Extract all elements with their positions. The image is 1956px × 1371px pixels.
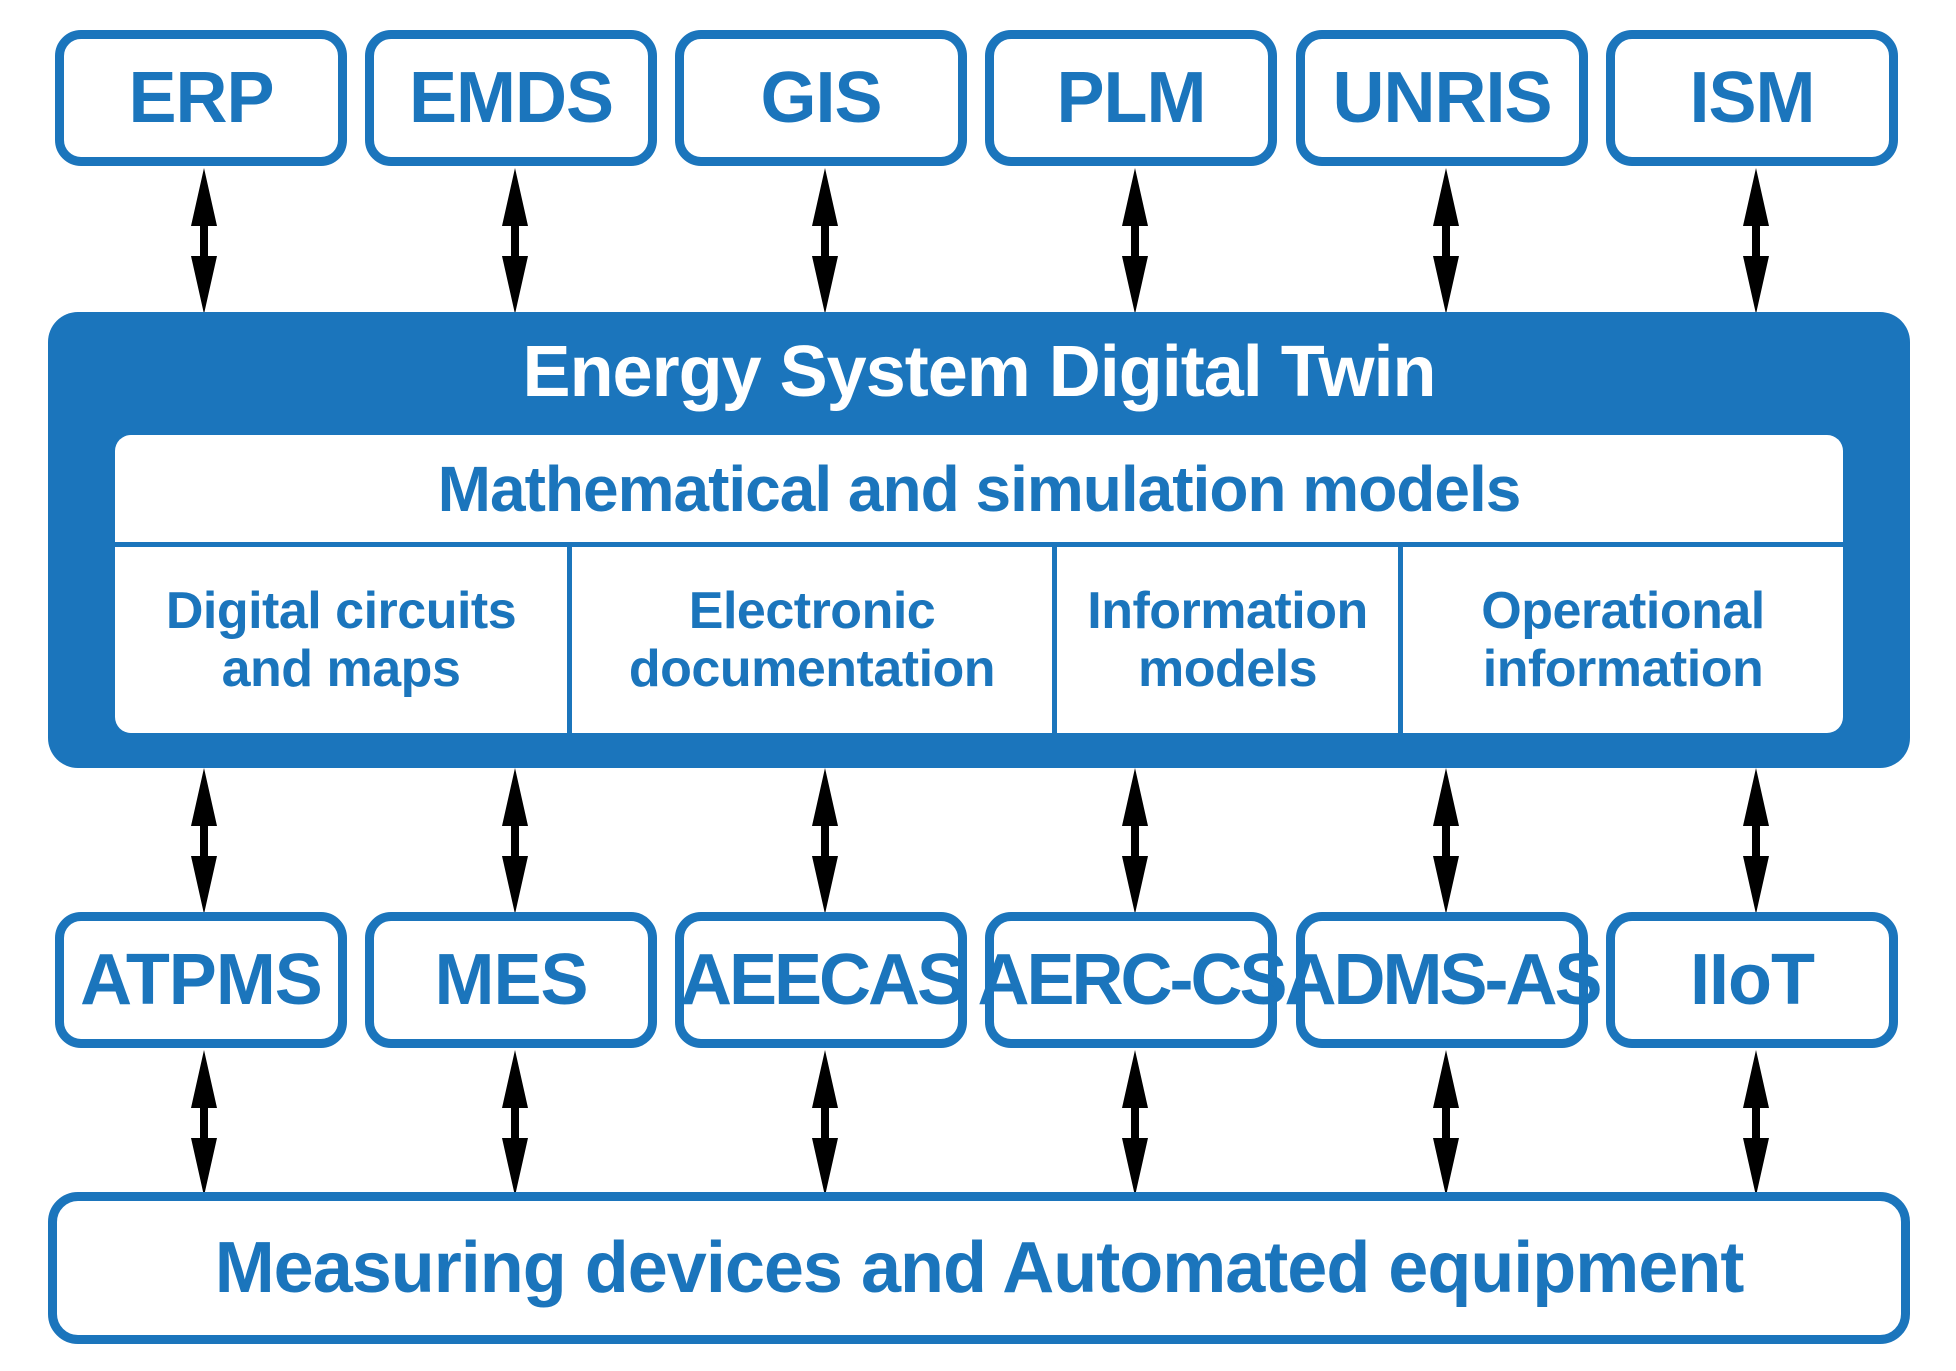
models-container: Mathematical and simulation models Digit… <box>115 435 1843 733</box>
system-box-label: ATPMS <box>80 944 322 1016</box>
system-box-iiot[interactable]: IIoT <box>1606 912 1898 1048</box>
system-box-label: ISM <box>1689 62 1814 134</box>
system-box-label: PLM <box>1057 62 1206 134</box>
system-box-gis[interactable]: GIS <box>675 30 967 166</box>
system-box-label: AEECAS <box>680 944 962 1016</box>
measuring-devices-bar[interactable]: Measuring devices and Automated equipmen… <box>48 1192 1910 1344</box>
system-box-adms-as[interactable]: ADMS-AS <box>1296 912 1588 1048</box>
system-box-label: GIS <box>760 62 881 134</box>
connector-arrow-gis-twin <box>807 168 843 314</box>
model-column-label: Information models <box>1063 582 1392 698</box>
models-columns: Digital circuits and maps Electronic doc… <box>115 547 1843 733</box>
diagram-canvas: ERP EMDS GIS PLM UNRIS ISM Energy System… <box>0 0 1956 1371</box>
system-box-label: IIoT <box>1690 944 1814 1016</box>
connector-arrow-emds-twin <box>497 168 533 314</box>
system-box-aeecas[interactable]: AEECAS <box>675 912 967 1048</box>
model-column-electronic-documentation[interactable]: Electronic documentation <box>572 547 1057 733</box>
model-column-operational-information[interactable]: Operational information <box>1403 547 1843 733</box>
connector-arrow-twin-atpms <box>186 768 222 914</box>
system-box-aerc-cs[interactable]: AERC-CS <box>985 912 1277 1048</box>
system-box-plm[interactable]: PLM <box>985 30 1277 166</box>
system-box-label: ADMS-AS <box>1285 944 1600 1016</box>
system-box-unris[interactable]: UNRIS <box>1296 30 1588 166</box>
connector-arrow-erp-twin <box>186 168 222 314</box>
connector-arrow-twin-mes <box>497 768 533 914</box>
connector-arrow-mes-devices <box>497 1050 533 1196</box>
connector-arrow-adms-as-devices <box>1428 1050 1464 1196</box>
connector-arrow-twin-iiot <box>1738 768 1774 914</box>
connector-arrow-aerc-cs-devices <box>1117 1050 1153 1196</box>
system-box-label: EMDS <box>409 62 613 134</box>
connector-arrow-iiot-devices <box>1738 1050 1774 1196</box>
system-box-label: UNRIS <box>1332 62 1551 134</box>
connector-arrow-twin-adms-as <box>1428 768 1464 914</box>
connector-arrow-atpms-devices <box>186 1050 222 1196</box>
connector-arrow-ism-twin <box>1738 168 1774 314</box>
system-box-erp[interactable]: ERP <box>55 30 347 166</box>
system-box-mes[interactable]: MES <box>365 912 657 1048</box>
system-box-label: MES <box>434 944 587 1016</box>
model-column-digital-circuits-and-maps[interactable]: Digital circuits and maps <box>115 547 572 733</box>
model-column-information-models[interactable]: Information models <box>1057 547 1403 733</box>
system-box-emds[interactable]: EMDS <box>365 30 657 166</box>
connector-arrow-plm-twin <box>1117 168 1153 314</box>
system-box-label: AERC-CS <box>978 944 1285 1016</box>
model-column-label: Operational information <box>1409 582 1837 698</box>
model-column-label: Digital circuits and maps <box>121 582 561 698</box>
connector-arrow-aeecas-devices <box>807 1050 843 1196</box>
model-column-label: Electronic documentation <box>578 582 1046 698</box>
system-box-ism[interactable]: ISM <box>1606 30 1898 166</box>
models-title: Mathematical and simulation models <box>115 435 1843 547</box>
connector-arrow-twin-aeecas <box>807 768 843 914</box>
connector-arrow-twin-aerc-cs <box>1117 768 1153 914</box>
system-box-atpms[interactable]: ATPMS <box>55 912 347 1048</box>
measuring-devices-label: Measuring devices and Automated equipmen… <box>215 1232 1744 1304</box>
digital-twin-panel: Energy System Digital Twin Mathematical … <box>48 312 1910 768</box>
system-box-label: ERP <box>128 62 273 134</box>
digital-twin-title: Energy System Digital Twin <box>48 336 1910 408</box>
connector-arrow-unris-twin <box>1428 168 1464 314</box>
